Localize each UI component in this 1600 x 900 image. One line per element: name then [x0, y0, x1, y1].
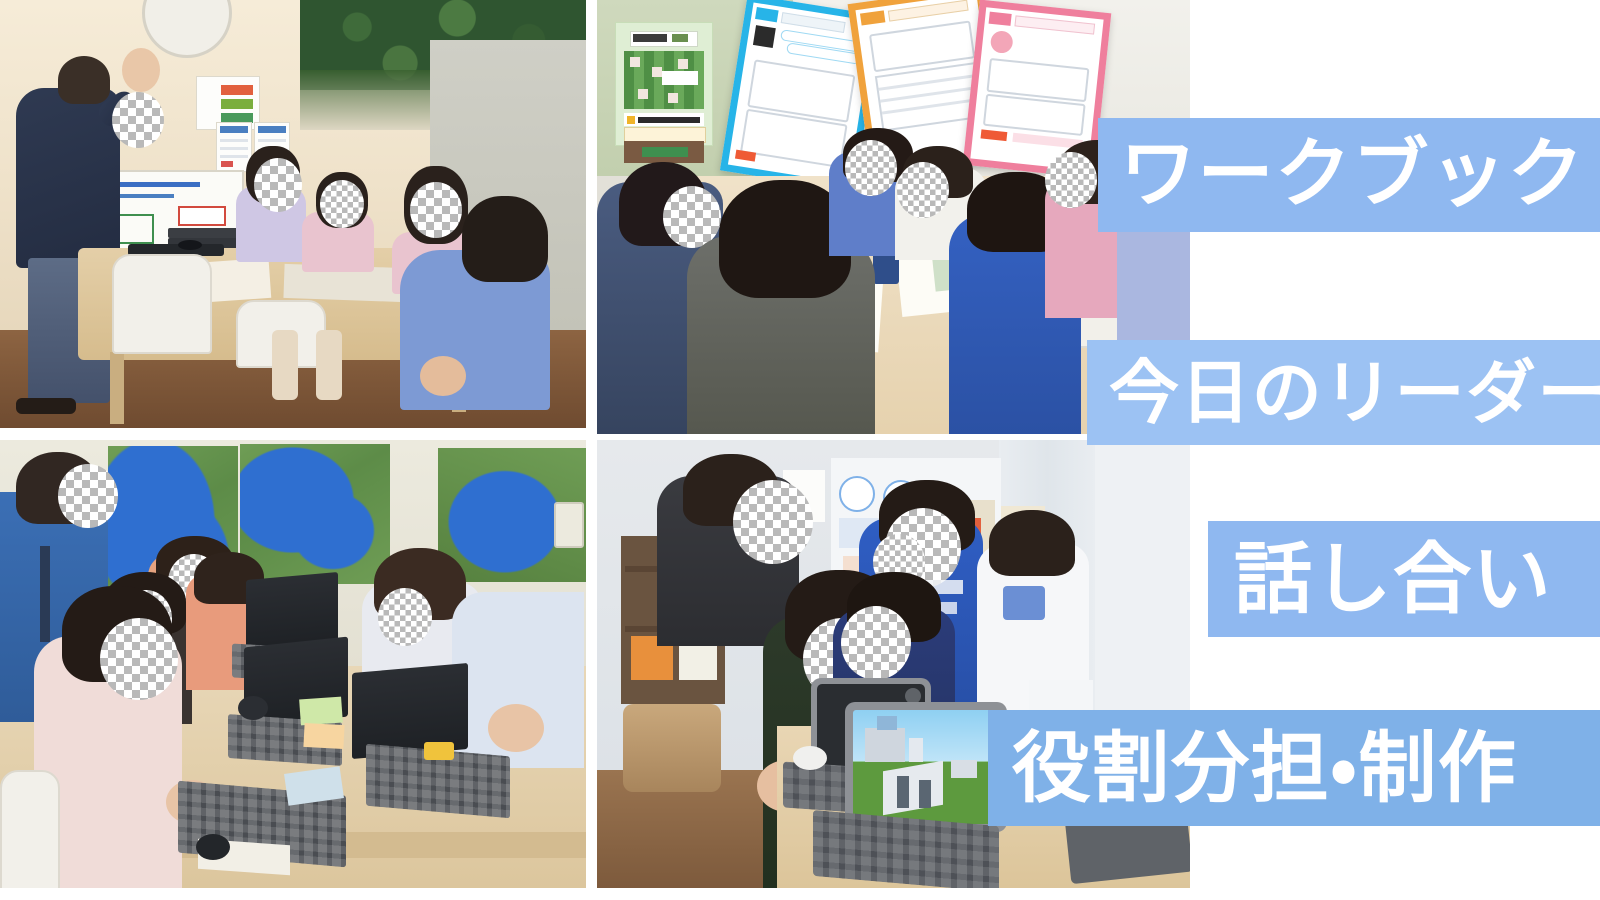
caption-roles-and-building: 役割分担・制作: [988, 710, 1600, 826]
caption-discussion: 話し合い: [1208, 521, 1600, 637]
map-poster-center: [240, 444, 390, 584]
wall-label-ru: [839, 476, 875, 512]
shirt-number: [1003, 586, 1045, 620]
face-blur-child-5: [378, 588, 432, 646]
drum-stool: [623, 704, 721, 792]
mouse: [196, 834, 230, 860]
sticky-note: [299, 697, 343, 726]
chair: [112, 254, 212, 354]
face-blur-teacher: [58, 464, 118, 528]
face-blur-c: [845, 140, 897, 196]
eraser: [424, 742, 454, 760]
photo-bottom-left: [0, 440, 586, 888]
face-blur-child-4: [841, 606, 911, 680]
photo-bottom-left-scene: [0, 440, 586, 888]
face-blur-d: [897, 162, 949, 218]
minecraft-cup-poster-2025: [615, 22, 713, 146]
face-blur-child-1: [254, 158, 302, 212]
chair: [0, 770, 60, 888]
caption-discussion-label: 話し合い: [1234, 540, 1552, 618]
mouse: [793, 746, 827, 770]
photo-top-left: [0, 0, 586, 428]
caption-todays-leader-label: 今日のリーダー: [1109, 358, 1600, 428]
face-blur-child-2: [320, 180, 364, 228]
face-blur-adult: [733, 480, 813, 564]
mouse: [238, 696, 268, 720]
face-blur-teacher: [112, 92, 164, 148]
poster-year-2025: [662, 71, 698, 85]
face-blur-child-3: [100, 618, 178, 700]
photo-top-left-scene: [0, 0, 586, 428]
face-blur-f: [1045, 152, 1097, 208]
caption-roles-and-building-label: 役割分担・制作: [1012, 729, 1517, 807]
photo-collage: ワークブック 今日のリーダー 話し合い 役割分担・制作: [0, 0, 1600, 900]
caption-todays-leader: 今日のリーダー: [1087, 340, 1600, 445]
caption-workbook: ワークブック: [1098, 118, 1600, 232]
sticky-note: [303, 723, 344, 749]
tablet-front-screen: [853, 710, 999, 824]
face-blur-child-3: [410, 182, 462, 238]
light-switch: [554, 502, 584, 548]
caption-workbook-label: ワークブック: [1120, 137, 1585, 213]
